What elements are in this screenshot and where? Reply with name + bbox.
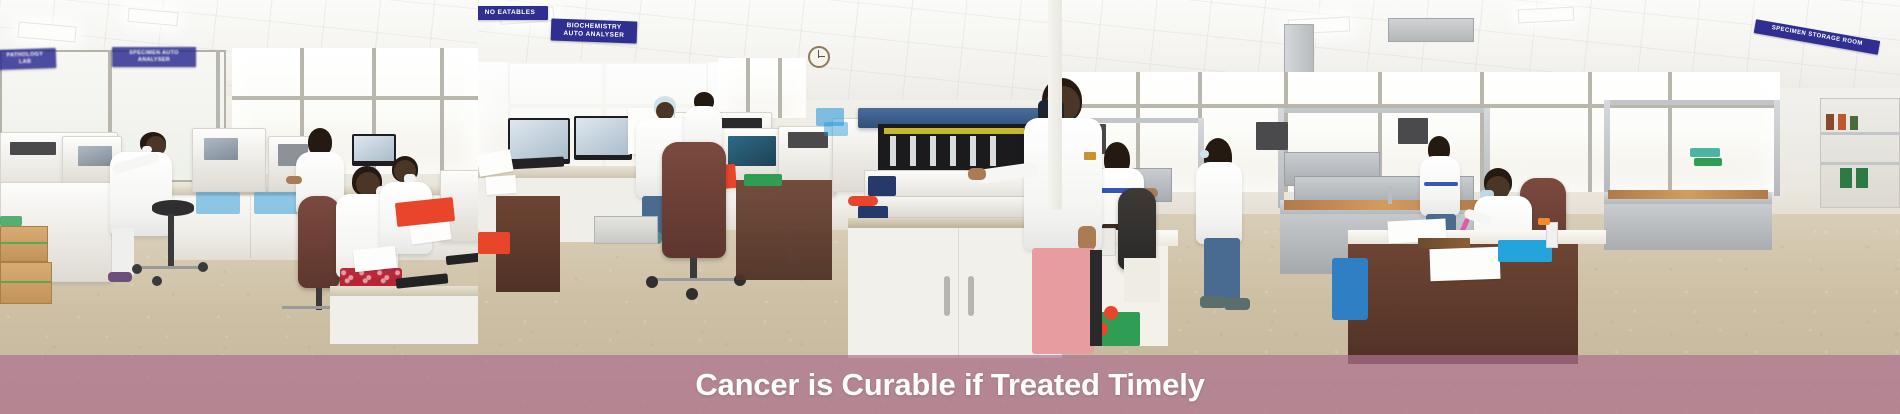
monitor xyxy=(574,116,632,160)
sign-pathology-lab: PATHOLOGY LAB xyxy=(0,48,56,70)
wall-clock xyxy=(808,46,830,68)
desk-top xyxy=(1348,230,1606,244)
technician-hand xyxy=(968,168,986,180)
lab-banner-image: PATHOLOGY LAB SPECIMEN AUTO ANALYSER xyxy=(0,0,1900,414)
sign-no-eatables-2: NO EATABLES xyxy=(478,6,548,20)
office-chair xyxy=(662,142,726,258)
printer xyxy=(594,216,658,244)
banner-tagline: Cancer is Curable if Treated Timely xyxy=(695,369,1204,400)
exhaust-duct xyxy=(1388,18,1474,42)
panel-hematology-lab: PATHOLOGY LAB SPECIMEN AUTO ANALYSER xyxy=(0,0,478,414)
probe-array xyxy=(890,136,1010,166)
stool xyxy=(1124,258,1160,302)
ceiling-light xyxy=(1518,7,1575,24)
tagline-banner: Cancer is Curable if Treated Timely xyxy=(0,355,1900,414)
technician-legs xyxy=(1032,248,1094,354)
cabinet-handle xyxy=(944,276,950,316)
carton-box xyxy=(0,262,52,304)
paper-sheet xyxy=(485,175,516,195)
paper-sheet xyxy=(353,246,397,272)
technician-legs xyxy=(1090,250,1102,346)
technician-legs xyxy=(112,228,134,276)
technician-labcoat xyxy=(1196,162,1242,244)
staining-tray xyxy=(1498,240,1552,262)
id-badge xyxy=(1084,152,1096,160)
spray-bottle xyxy=(1546,222,1558,248)
technician-labcoat xyxy=(1420,156,1460,216)
slide-tray xyxy=(1418,238,1470,248)
cabinet-handle xyxy=(968,276,974,316)
wooden-table xyxy=(736,180,832,280)
technician-hand xyxy=(1078,226,1096,250)
sign-biochemistry-auto-analyser: BIOCHEMISTRY AUTO ANALYSER xyxy=(551,19,638,44)
monitor xyxy=(352,134,396,166)
paper-stack xyxy=(1429,247,1500,281)
technician-shoe xyxy=(108,272,132,282)
tubing xyxy=(884,128,1024,134)
panel-histopathology-lab: SPECIMEN STORAGE ROOM xyxy=(1048,0,1900,414)
water-can xyxy=(1332,258,1368,320)
office-chair xyxy=(298,196,340,288)
wall-edge xyxy=(1048,0,1062,210)
carton-box xyxy=(0,226,48,262)
sign-specimen-auto-analyser: SPECIMEN AUTO ANALYSER xyxy=(112,47,196,67)
